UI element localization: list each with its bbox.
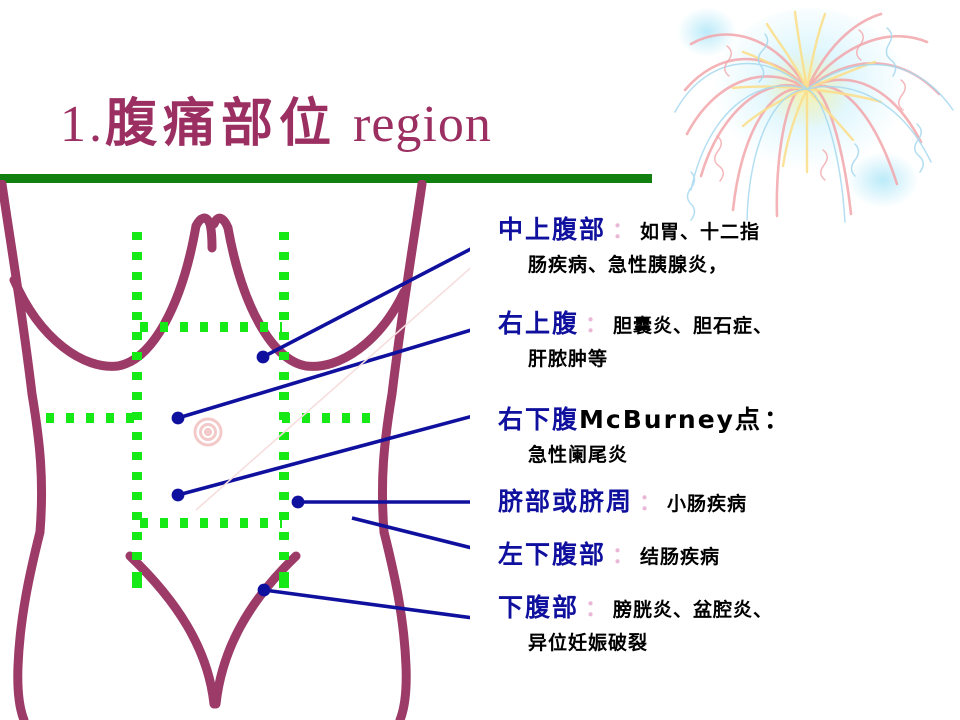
label-heading-point: 点 <box>735 400 762 436</box>
label-description-cont: 异位妊娠破裂 <box>498 628 958 655</box>
firework-decoration <box>655 0 960 224</box>
title-number: 1. <box>60 96 105 153</box>
label-description: 小肠疾病 <box>667 489 747 516</box>
label-colon: ： <box>633 485 667 517</box>
label-right-upper-abdomen: 右上腹 ： 胆囊炎、胆石症、 肝脓肿等 <box>498 304 958 371</box>
label-heading-mcburney: McBurney <box>579 405 735 434</box>
label-heading: 中上腹部 <box>498 210 606 246</box>
label-colon: ： <box>762 400 791 436</box>
label-umbilical-region: 脐部或脐周 ： 小肠疾病 <box>498 482 958 518</box>
label-upper-middle-abdomen: 中上腹部 ： 如胃、十二指 肠疾病、急性胰腺炎， <box>498 210 958 277</box>
label-colon: ： <box>606 213 640 245</box>
region-label-list: 中上腹部 ： 如胃、十二指 肠疾病、急性胰腺炎， 右上腹 ： 胆囊炎、胆石症、 … <box>498 210 958 680</box>
label-heading: 下腹部 <box>498 588 579 624</box>
title-chinese: 腹痛部位 <box>105 94 337 154</box>
label-colon: ： <box>606 538 640 570</box>
slide-canvas: 1.腹痛部位 region <box>0 0 960 720</box>
label-description-cont: 肠疾病、急性胰腺炎， <box>498 250 958 277</box>
umbilicus-marker <box>195 419 221 445</box>
label-colon: ： <box>579 591 613 623</box>
label-right-lower-abdomen-mcburney: 右下腹McBurney点： 急性阑尾炎 <box>498 400 958 467</box>
label-heading: 左下腹部 <box>498 535 606 571</box>
label-description: 如胃、十二指 <box>640 217 760 244</box>
title-english: region <box>353 96 492 153</box>
abdominal-regions-diagram <box>0 180 470 720</box>
label-lower-abdomen: 下腹部 ： 膀胱炎、盆腔炎、 异位妊娠破裂 <box>498 588 958 655</box>
nine-region-grid <box>137 232 284 592</box>
label-description: 结肠疾病 <box>640 542 720 569</box>
label-heading: 脐部或脐周 <box>498 482 633 518</box>
label-description-cont: 急性阑尾炎 <box>498 440 958 467</box>
label-heading: 右下腹 <box>498 400 579 436</box>
label-heading: 右上腹 <box>498 304 579 340</box>
label-colon: ： <box>579 307 613 339</box>
page-title: 1.腹痛部位 region <box>60 92 492 157</box>
label-description: 胆囊炎、胆石症、 <box>613 311 773 338</box>
label-description: 膀胱炎、盆腔炎、 <box>613 595 773 622</box>
label-description-cont: 肝脓肿等 <box>498 344 958 371</box>
torso-outline <box>2 184 422 720</box>
label-left-lower-abdomen: 左下腹部 ： 结肠疾病 <box>498 535 958 571</box>
